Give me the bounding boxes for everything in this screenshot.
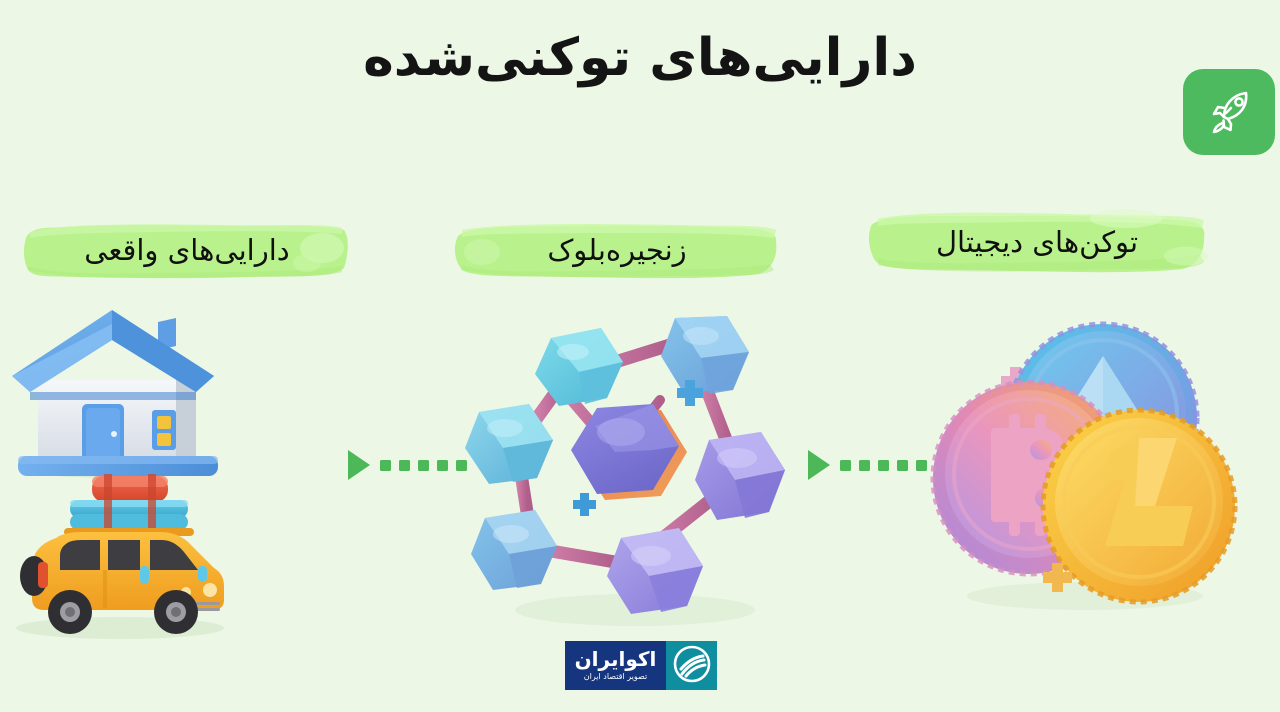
illustration-real-assets: [0, 300, 350, 640]
column-header-label-blockchain: زنجیره‌بلوک: [547, 233, 686, 269]
arrow-dash: [456, 460, 467, 471]
column-header-real-assets: دارایی‌های واقعی: [22, 208, 352, 294]
arrow-head-icon: [808, 450, 830, 480]
block-cube: [661, 316, 749, 394]
logo-name: اکوایران: [575, 649, 657, 670]
arrow-dash: [380, 460, 391, 471]
infographic-canvas: دارایی‌های توکنی‌شده دارایی‌های واقعی: [0, 0, 1280, 712]
arrow-dash: [840, 460, 851, 471]
arrow-dash: [878, 460, 889, 471]
arrow-head-icon: [348, 450, 370, 480]
column-header-digital-tokens: توکن‌های دیجیتال: [866, 200, 1208, 286]
logo-tagline: تصویر اقتصاد ایران: [584, 672, 647, 681]
arrow-dash: [859, 460, 870, 471]
rocket-badge[interactable]: [1183, 69, 1275, 155]
car-illustration: [16, 474, 224, 639]
arrow-dash: [897, 460, 908, 471]
logo-text-block: اکوایران تصویر اقتصاد ایران: [565, 641, 666, 690]
illustration-digital-tokens: [925, 310, 1240, 620]
sparkle-plus-icon: [573, 493, 596, 516]
arrow-dash: [916, 460, 927, 471]
column-header-label-real-assets: دارایی‌های واقعی: [84, 233, 289, 269]
illustration-blockchain: [455, 300, 805, 640]
arrow-chain-to-tokens: [808, 450, 927, 480]
arrow-real-to-chain: [348, 450, 467, 480]
rocket-icon: [1200, 83, 1258, 141]
column-header-label-digital-tokens: توکن‌های دیجیتال: [936, 225, 1138, 261]
arrow-dash: [418, 460, 429, 471]
ecoiran-logo[interactable]: اکوایران تصویر اقتصاد ایران: [565, 641, 717, 690]
column-header-blockchain: زنجیره‌بلوک: [452, 208, 782, 294]
page-title: دارایی‌های توکنی‌شده: [0, 26, 1280, 91]
leaf-swoosh-icon: [673, 645, 711, 687]
arrow-dash: [437, 460, 448, 471]
arrow-dash: [399, 460, 410, 471]
logo-mark-block: [666, 641, 717, 690]
block-cube: [471, 510, 557, 590]
house-illustration: [12, 310, 218, 478]
